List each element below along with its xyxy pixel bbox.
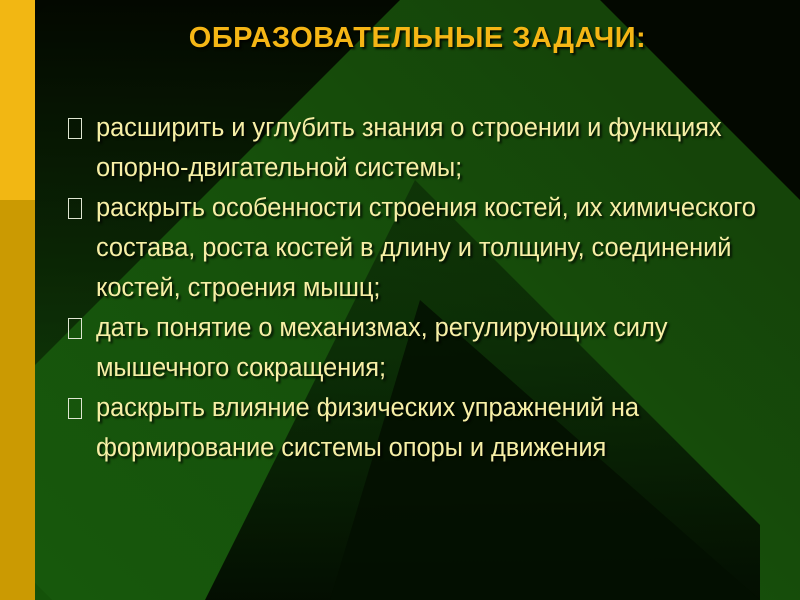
tofu-box-bullet-icon (68, 398, 82, 419)
tofu-box-bullet-icon (68, 198, 82, 219)
bullet-list: расширить и углубить знания о строении и… (68, 108, 768, 468)
list-item-text: расширить и углубить знания о строении и… (96, 108, 768, 188)
tofu-box-bullet-icon (68, 118, 82, 139)
tofu-box-bullet-icon (68, 318, 82, 339)
list-item-text: дать понятие о механизмах, регулирующих … (96, 308, 768, 388)
list-item: раскрыть влияние физических упражнений н… (68, 388, 768, 468)
list-item-text: раскрыть особенности строения костей, их… (96, 188, 768, 308)
stripe-segment-bottom (0, 200, 35, 600)
stripe-segment-top (0, 0, 35, 200)
slide-canvas: ОБРАЗОВАТЕЛЬНЫЕ ЗАДАЧИ: расширить и углу… (0, 0, 800, 600)
left-accent-stripe (0, 0, 35, 600)
list-item: раскрыть особенности строения костей, их… (68, 188, 768, 308)
list-item-text: раскрыть влияние физических упражнений н… (96, 388, 768, 468)
list-item: расширить и углубить знания о строении и… (68, 108, 768, 188)
list-item: дать понятие о механизмах, регулирующих … (68, 308, 768, 388)
slide-title: ОБРАЗОВАТЕЛЬНЫЕ ЗАДАЧИ: (35, 22, 800, 55)
